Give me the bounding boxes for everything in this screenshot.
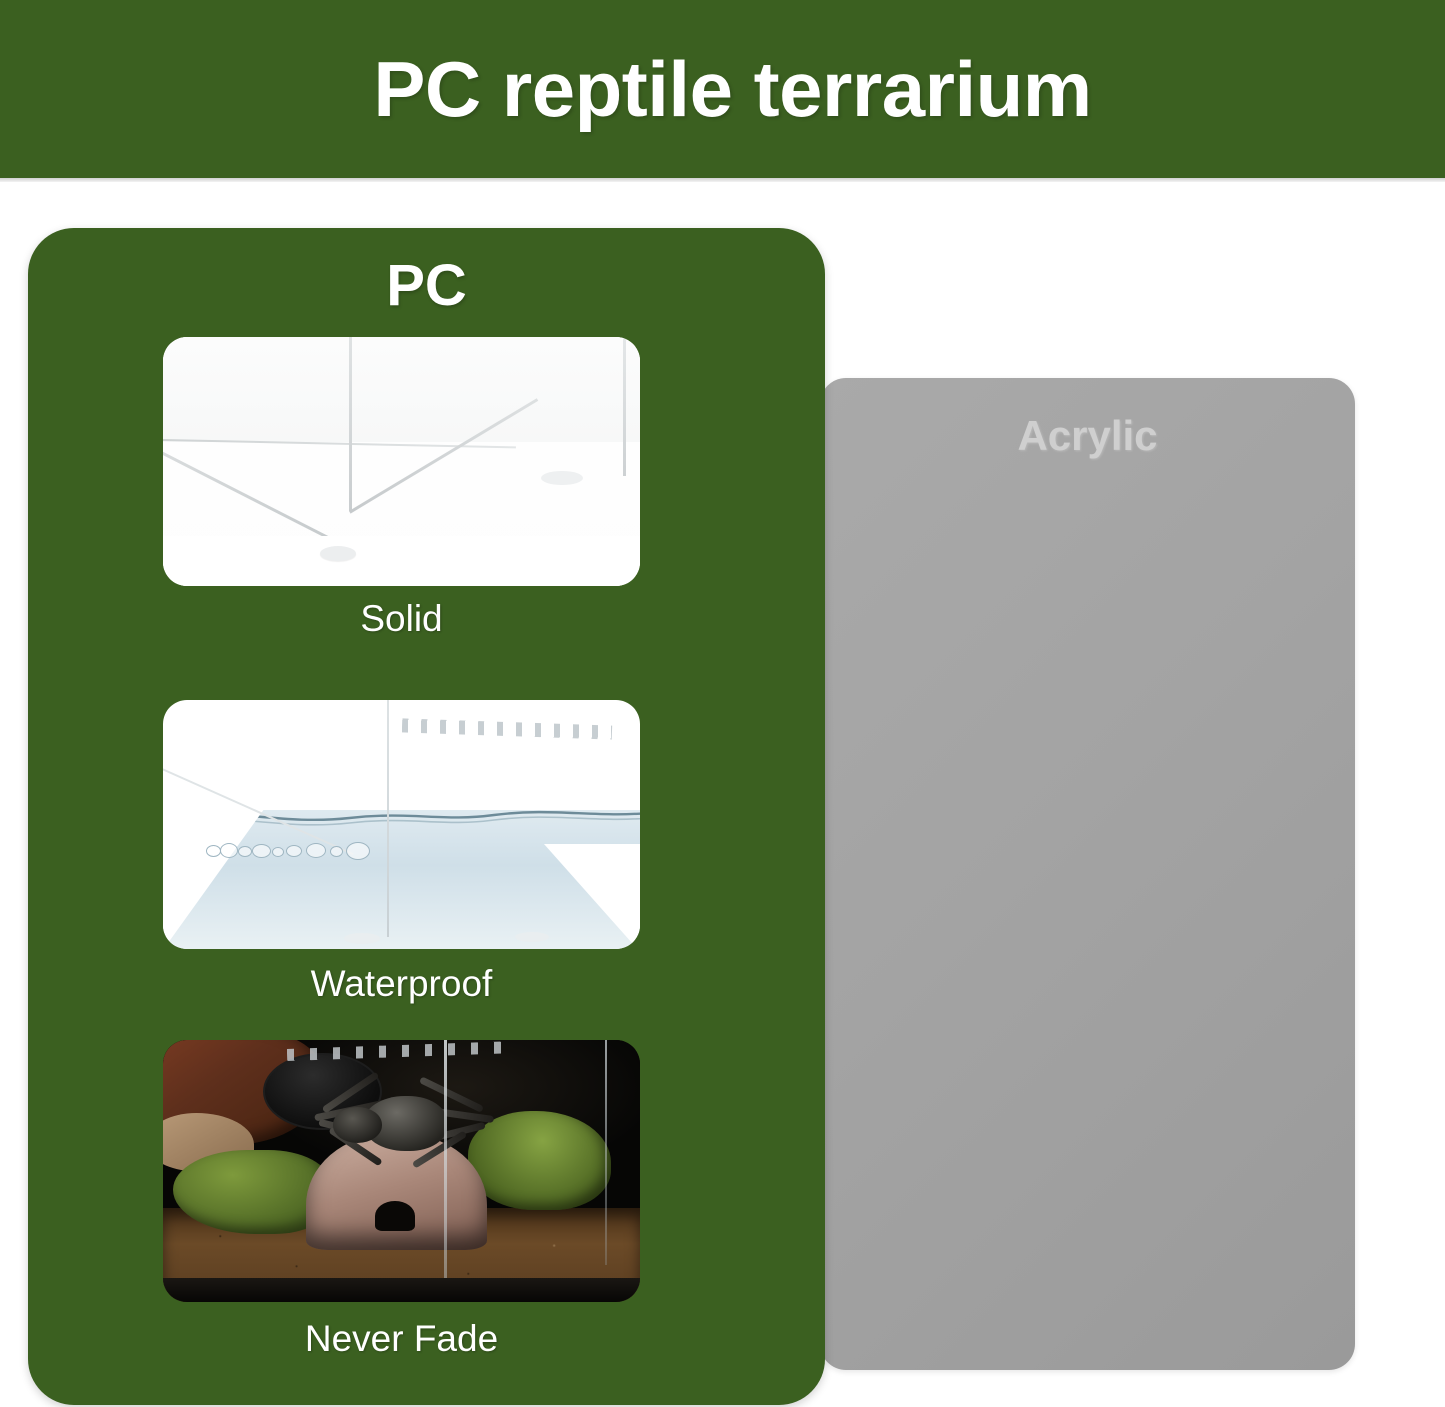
pc-caption-solid: Solid — [163, 598, 640, 640]
acrylic-comparison-panel: Acrylic Easy to Break — [820, 378, 1355, 1370]
base-area — [163, 536, 640, 586]
vertical-corner-edge — [349, 337, 352, 511]
bubble-cluster — [206, 842, 378, 858]
hide-opening — [375, 1201, 415, 1231]
rubber-foot-right — [515, 932, 549, 942]
tarantula-cephalothorax — [333, 1107, 383, 1143]
left-white-cut — [163, 805, 267, 949]
infographic-canvas: PC reptile terrarium Acrylic Easy to Bre… — [0, 0, 1445, 1407]
pc-caption-never-fade: Never Fade — [163, 1318, 640, 1360]
corner-glass-edge — [444, 1040, 447, 1302]
acrylic-panel-heading: Acrylic — [820, 412, 1355, 460]
header-divider — [0, 178, 1445, 182]
right-white-cut — [544, 844, 640, 949]
page-title: PC reptile terrarium — [0, 0, 1445, 178]
ventilation-holes — [401, 719, 611, 740]
header-banner: PC reptile terrarium — [0, 0, 1445, 178]
vertical-corner-edge — [387, 700, 389, 937]
clear-pc-terrarium-corner-photo — [163, 337, 640, 586]
floor-shadow — [163, 1278, 640, 1302]
right-wall-edge — [623, 337, 626, 476]
right-glass-edge — [605, 1040, 607, 1265]
tarantula-terrarium-photo — [163, 1040, 640, 1302]
water-filled-terrarium-photo — [163, 700, 640, 949]
upper-wall — [163, 337, 640, 442]
tarantula — [306, 1077, 497, 1166]
pc-panel-heading: PC — [28, 252, 825, 319]
pc-caption-waterproof: Waterproof — [163, 963, 640, 1005]
